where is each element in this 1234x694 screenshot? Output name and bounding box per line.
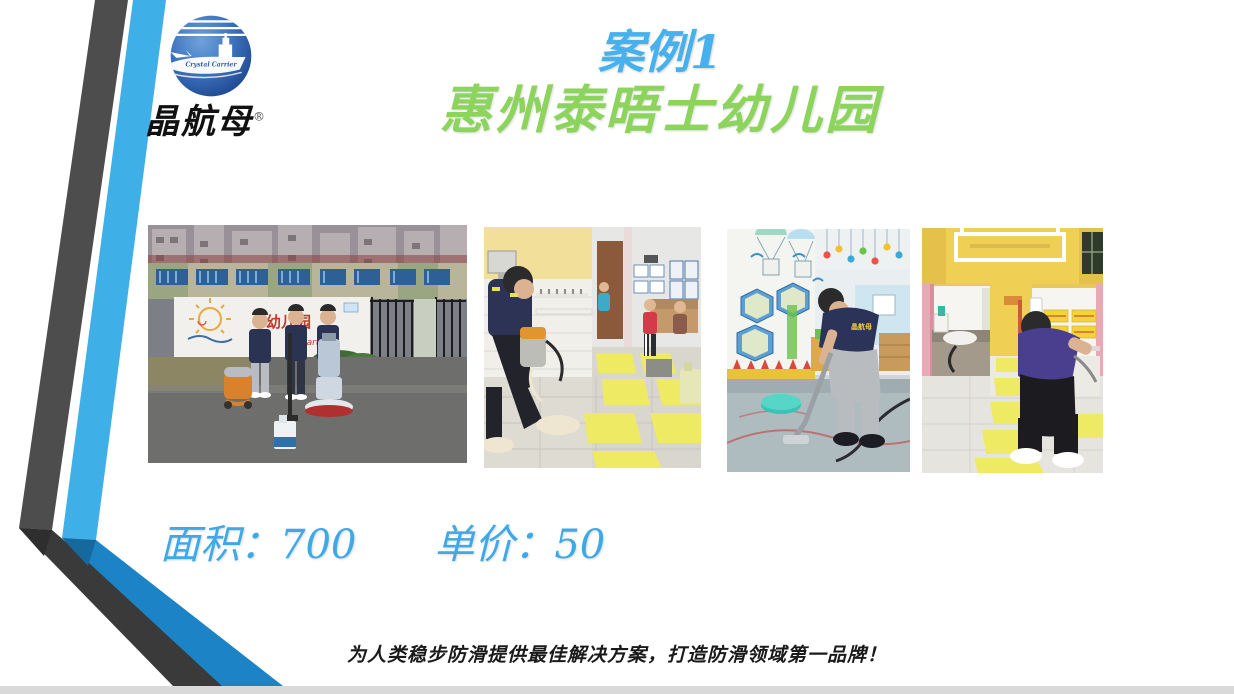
photo-indoor-corridor-vacuum: 室内走廊吸尘施工，黄白相间地砖: [484, 227, 701, 468]
slide-canvas: Crystal Carrier 晶航母® 案例1 惠州泰晤士幼儿园: [0, 0, 1234, 694]
stat-unit-price-value: 50: [554, 522, 605, 568]
stat-unit-price: 单价：50: [434, 512, 605, 570]
brand-wordmark: 晶航母®: [145, 94, 305, 154]
project-name-title: 惠州泰晤士幼儿园: [330, 82, 990, 139]
stat-unit-price-label: 单价：: [434, 522, 554, 568]
stat-area-label: 面积：: [160, 522, 280, 568]
photo-3-artwork: 晶航母: [727, 229, 910, 472]
bottom-bar: [0, 686, 1234, 694]
photo-kindergarten-entrance-team: 幼儿园 ...arten: [148, 225, 467, 463]
chevron-gray-upper: [19, 0, 128, 530]
photo-1-artwork: 幼儿园 ...arten: [148, 225, 467, 463]
brand-wordmark-text: 晶航母: [145, 102, 253, 142]
stat-area: 面积：700: [160, 512, 356, 570]
stat-area-value: 700: [280, 522, 356, 568]
registered-trademark-icon: ®: [253, 110, 265, 124]
chevron-gray-vertex-shadow: [19, 528, 52, 556]
photo-2-artwork: [484, 227, 701, 468]
footer-slogan: 为人类稳步防滑提供最佳解决方案，打造防滑领域第一品牌！: [0, 640, 1234, 667]
crystal-carrier-ship-logo-icon: Crystal Carrier: [163, 8, 259, 104]
slide-title-group: 案例1 惠州泰晤士幼儿园: [330, 28, 990, 139]
chevron-blue-vertex-shadow: [62, 538, 96, 566]
photo-classroom-floor-mopping: 晶航母 教室内地面防滑施工: [727, 229, 910, 472]
photo-4-artwork: [922, 228, 1103, 473]
brand-logo: Crystal Carrier 晶航母®: [145, 2, 305, 157]
logo-hull-text: Crystal Carrier: [185, 62, 237, 69]
photo-restroom-antislip: 卫生间地面防滑处理: [922, 228, 1103, 473]
case-number-title: 案例1: [330, 28, 990, 76]
project-stats: 面积：700单价：50: [160, 512, 720, 570]
svg-text:晶航母: 晶航母: [851, 322, 872, 331]
